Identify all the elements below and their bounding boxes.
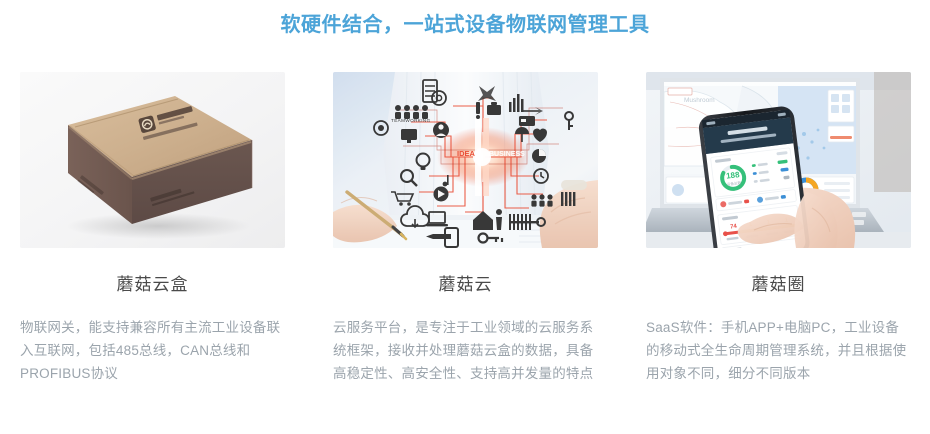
feature-card-list: 蘑菇云盒 物联网关，能支持兼容所有主流工业设备联入互联网，包括485总线，CAN… bbox=[20, 72, 910, 385]
promo-section: 软硬件结合，一站式设备物联网管理工具 bbox=[0, 0, 930, 434]
card-description: SaaS软件：手机APP+电脑PC，工业设备的移动式全生命周期管理系统，并且根据… bbox=[646, 316, 911, 385]
card-description: 物联网关，能支持兼容所有主流工业设备联入互联网，包括485总线，CAN总线和PR… bbox=[20, 316, 285, 385]
feature-card-mushroom-cloud[interactable]: IDEA BUSINESS bbox=[333, 72, 598, 385]
page-title: 软硬件结合，一站式设备物联网管理工具 bbox=[0, 8, 930, 37]
mobile-dashboard-photo: Mushroom bbox=[646, 72, 911, 248]
svg-text:Mushroom: Mushroom bbox=[684, 97, 715, 104]
card-heading: 蘑菇云盒 bbox=[20, 270, 285, 295]
card-heading: 蘑菇圈 bbox=[646, 270, 911, 295]
iot-idea-network-photo: IDEA BUSINESS bbox=[333, 72, 598, 248]
card-heading: 蘑菇云 bbox=[333, 270, 598, 295]
device-total-value: 188 bbox=[726, 170, 741, 181]
feature-card-mushroom-circle[interactable]: Mushroom bbox=[646, 72, 911, 385]
card-description: 云服务平台，是专注于工业领域的云服务系统框架，接收并处理蘑菇云盒的数据，具备高稳… bbox=[333, 316, 598, 385]
mushroom-cloud-box-photo bbox=[20, 72, 285, 248]
feature-card-mushroom-cloud-box[interactable]: 蘑菇云盒 物联网关，能支持兼容所有主流工业设备联入互联网，包括485总线，CAN… bbox=[20, 72, 285, 385]
